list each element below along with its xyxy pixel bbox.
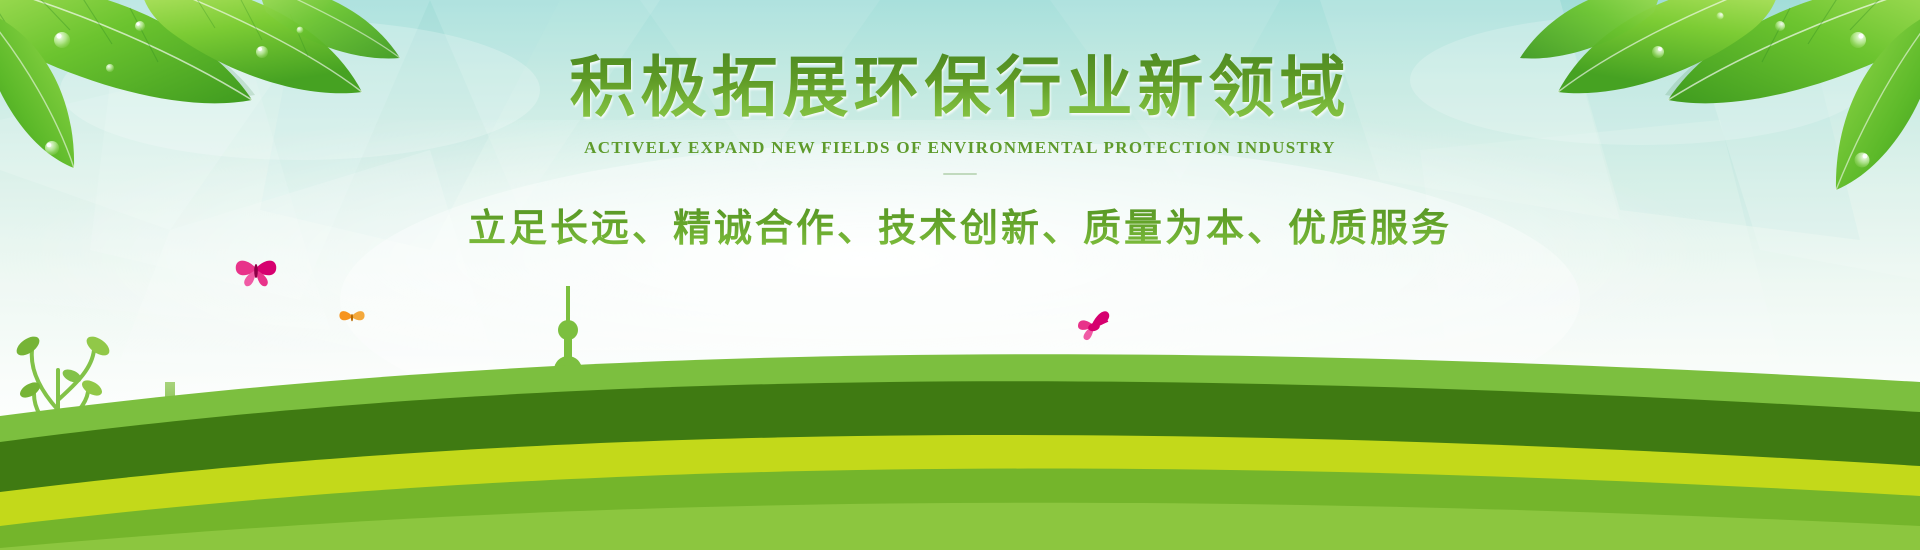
butterfly-icon xyxy=(236,261,277,287)
subtitle-english: ACTIVELY EXPAND NEW FIELDS OF ENVIRONMEN… xyxy=(0,138,1920,158)
page-title: 积极拓展环保行业新领域 xyxy=(0,52,1920,126)
slogan: 立足长远、精诚合作、技术创新、质量为本、优质服务 xyxy=(0,197,1920,252)
banner-content: 积极拓展环保行业新领域 ACTIVELY EXPAND NEW FIELDS O… xyxy=(0,0,1920,252)
eco-banner: 积极拓展环保行业新领域 ACTIVELY EXPAND NEW FIELDS O… xyxy=(0,0,1920,550)
wave-bands xyxy=(0,320,1920,550)
divider xyxy=(943,173,977,175)
